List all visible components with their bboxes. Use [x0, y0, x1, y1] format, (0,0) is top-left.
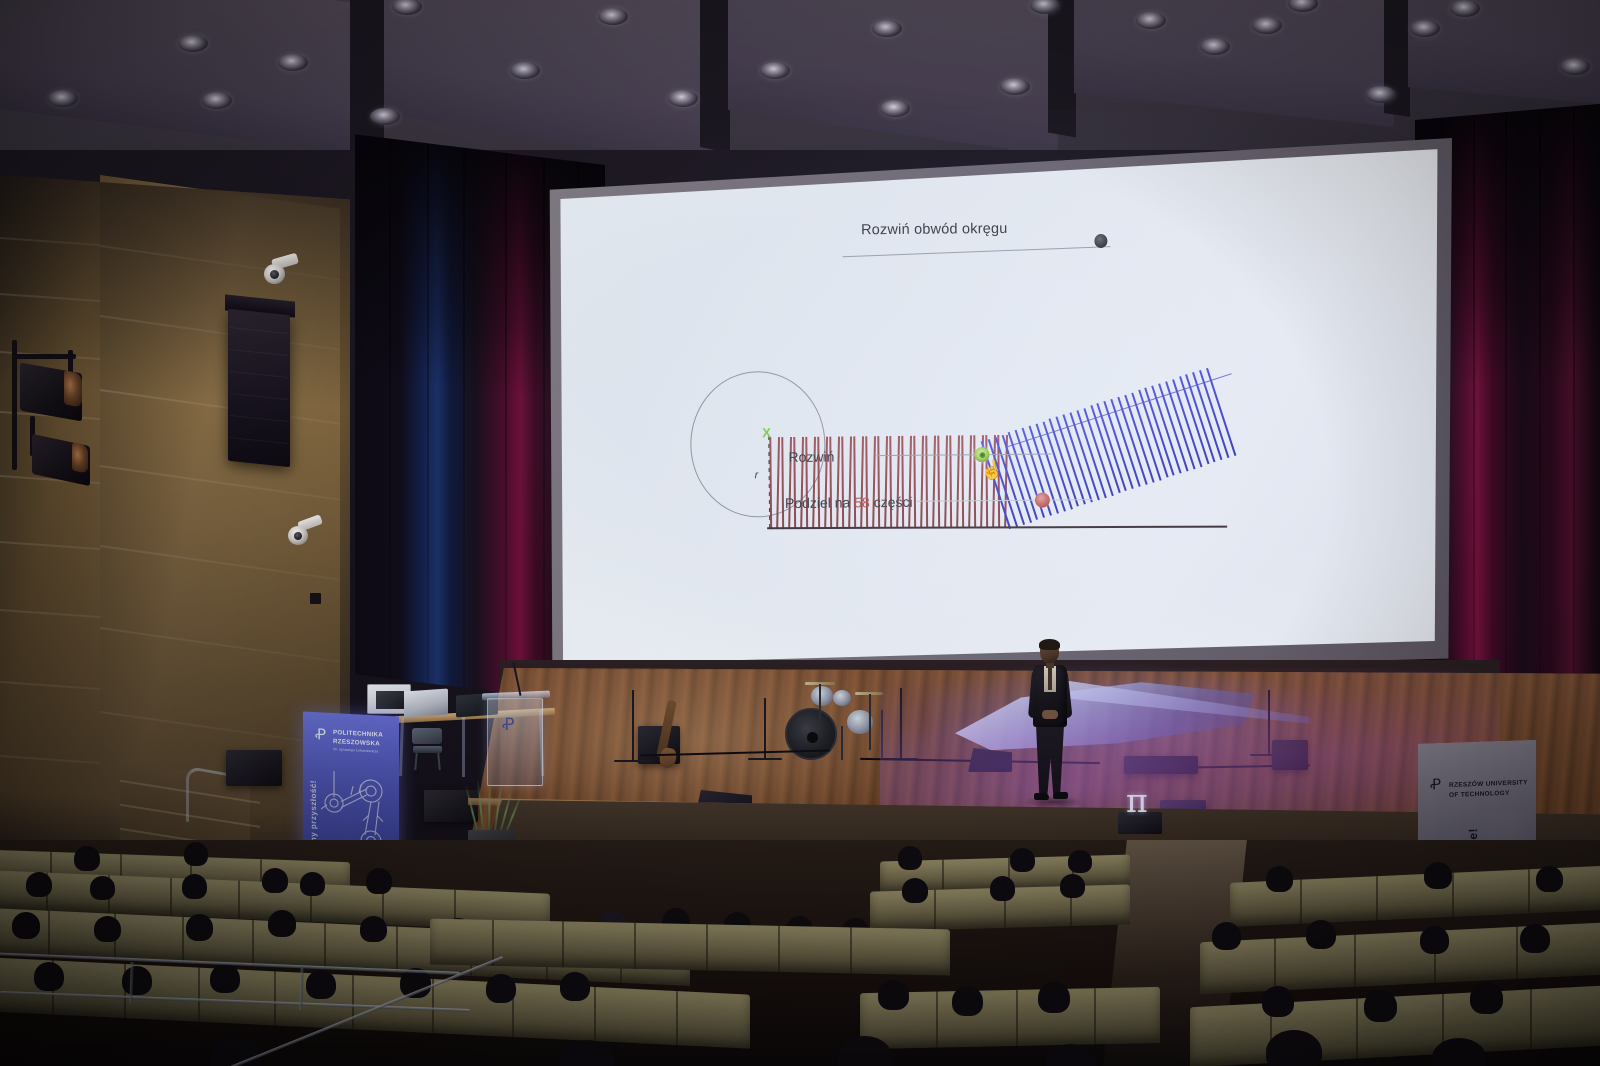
downlight	[1560, 58, 1590, 75]
flat-spoke	[937, 436, 940, 528]
flat-spoke	[889, 436, 892, 528]
flat-spoke	[932, 436, 936, 528]
downlight	[370, 108, 400, 125]
fan-spoke	[1097, 403, 1127, 491]
downlight	[760, 62, 790, 79]
audience-head	[1010, 848, 1035, 872]
divisions-slider-label: Podziel na 58 części	[785, 494, 913, 511]
divisions-suffix: części	[874, 494, 913, 510]
hand-cursor-icon: ☝	[979, 460, 1004, 481]
mic-stand	[900, 688, 902, 760]
audience-head	[122, 966, 152, 995]
audience-head	[366, 868, 392, 894]
audience-area	[0, 840, 1600, 1066]
audience-head	[90, 876, 115, 900]
flat-spoke	[968, 435, 972, 527]
flat-spoke	[853, 436, 856, 528]
equipment-case	[1272, 740, 1308, 770]
stage-light-fixture	[6, 340, 116, 510]
audience-head	[878, 980, 909, 1010]
fan-spoke	[1151, 386, 1181, 474]
flat-spoke	[841, 436, 844, 528]
downlight	[1200, 38, 1230, 55]
pi-symbol-icon: π	[1126, 784, 1148, 817]
projection-screen[interactable]: Rozwiń obwód okręgu r X Rozwiń ☝ P	[556, 147, 1441, 667]
flat-spoke	[925, 436, 928, 528]
flat-spoke	[872, 436, 876, 528]
university-logo-icon: Ꝓ	[315, 727, 326, 743]
audience-head	[182, 874, 207, 899]
fan-spoke	[1199, 370, 1229, 458]
mic-stand-base	[614, 760, 652, 762]
audience-head	[486, 974, 516, 1003]
downlight	[668, 90, 698, 107]
flat-spoke	[836, 437, 840, 529]
drum-kit	[775, 680, 900, 760]
flat-spoke	[949, 435, 952, 527]
audience-head	[186, 914, 213, 941]
university-logo-icon: Ꝓ	[1430, 777, 1441, 792]
audience-head	[1266, 866, 1293, 892]
downlight	[1366, 86, 1396, 103]
downlight	[48, 90, 78, 107]
flat-spoke	[884, 436, 888, 528]
audience-head	[306, 970, 336, 999]
fan-spoke	[1145, 388, 1175, 476]
geometry-figure: r X	[556, 147, 1441, 667]
audience-head	[1470, 982, 1503, 1014]
fan-spoke	[1104, 401, 1134, 489]
downlight	[1410, 20, 1440, 37]
flat-spoke	[865, 436, 868, 528]
audience-head	[1068, 850, 1092, 873]
flat-spoke	[896, 436, 900, 528]
flat-spoke	[956, 435, 960, 527]
flat-spoke	[860, 436, 864, 528]
audience-head	[184, 842, 208, 866]
fan-spoke	[1158, 383, 1188, 471]
audience-head	[1212, 922, 1241, 950]
divisions-slider-handle[interactable]	[1035, 493, 1050, 508]
fan-spoke	[1049, 419, 1079, 507]
fan-spoke	[1117, 397, 1147, 485]
audience-head	[952, 986, 983, 1016]
audience-head	[1262, 986, 1294, 1017]
mic-stand-base	[748, 758, 782, 760]
flat-spoke	[961, 435, 964, 527]
auditorium-scene: Rozwiń obwód okręgu r X Rozwiń ☝ P	[0, 0, 1600, 1066]
fan-spoke	[1063, 414, 1093, 502]
university-logo-icon: Ꝓ	[502, 717, 514, 734]
audience-head	[898, 846, 922, 870]
audience-head	[1536, 866, 1563, 892]
equipment-case	[226, 750, 282, 786]
unroll-slider-label: Rozwiń	[788, 449, 834, 465]
audience-head	[94, 916, 121, 942]
flat-spoke	[848, 436, 852, 528]
mic-stand	[632, 690, 634, 762]
lectern: Ꝓ	[487, 698, 543, 786]
pi-sculpture: π	[1118, 786, 1162, 834]
downlight	[1000, 78, 1030, 95]
laptop[interactable]	[404, 688, 448, 717]
slide-content: Rozwiń obwód okręgu r X Rozwiń ☝ P	[556, 147, 1441, 667]
audience-head	[1038, 982, 1070, 1013]
audience-head	[990, 876, 1015, 901]
audience-head	[560, 972, 590, 1001]
downlight	[202, 92, 232, 109]
downlight	[1450, 0, 1480, 17]
audience-head	[34, 962, 64, 991]
radius-label: r	[755, 469, 759, 481]
audience-head	[1424, 862, 1452, 889]
tom-drum	[833, 690, 851, 706]
audience-head	[360, 916, 387, 942]
fan-spoke	[1192, 372, 1222, 460]
flat-spoke	[901, 436, 904, 528]
figure-baseline	[767, 526, 1227, 530]
flat-spoke	[877, 436, 880, 528]
equipment-case	[1124, 756, 1198, 774]
audience-head	[1420, 926, 1449, 954]
audience-head	[1520, 924, 1550, 953]
audience-head	[74, 846, 100, 871]
fan-spoke	[1069, 412, 1099, 500]
fan-spoke	[1138, 390, 1168, 478]
stage-monitor-wedge	[968, 748, 1012, 772]
downlight	[178, 35, 208, 52]
audience-head	[300, 872, 325, 896]
desk-leg	[462, 715, 465, 777]
line-array-speaker	[228, 309, 290, 468]
banner-right-title-line2: OF TECHNOLOGY	[1449, 789, 1510, 800]
divisions-prefix: Podziel na	[785, 494, 851, 511]
audience-head	[26, 872, 52, 897]
wall-control-plate[interactable]	[310, 593, 321, 604]
fan-spoke	[1206, 368, 1236, 456]
flat-spoke	[920, 436, 924, 528]
flat-spoke	[908, 436, 912, 528]
audience-head	[12, 912, 40, 939]
chair	[412, 728, 442, 770]
fan-spoke	[1186, 374, 1216, 462]
downlight	[278, 54, 308, 71]
flat-spoke	[769, 437, 772, 529]
flat-spoke	[776, 437, 780, 529]
audience-head	[1364, 990, 1397, 1022]
fan-spoke	[1008, 432, 1038, 520]
presenter	[1020, 640, 1080, 810]
downlight	[1136, 12, 1166, 29]
audience-head	[268, 910, 296, 937]
flat-spoke	[781, 437, 784, 529]
downlight	[598, 8, 628, 25]
audience-head	[902, 878, 928, 903]
audience-head	[1266, 1030, 1322, 1066]
divisions-count: 58	[854, 494, 870, 510]
downlight	[1252, 17, 1282, 34]
tom-drum	[811, 686, 833, 706]
audience-head	[1060, 874, 1085, 898]
mic-stand	[1268, 690, 1270, 756]
flat-spoke	[913, 436, 916, 528]
banner-right-title-line1: RZESZÓW UNIVERSITY	[1449, 778, 1528, 790]
fan-spoke	[1110, 399, 1140, 487]
audience-head	[262, 868, 288, 893]
downlight	[880, 100, 910, 117]
downlight	[872, 20, 902, 37]
fan-spoke	[1056, 417, 1086, 505]
audience-head	[1306, 920, 1336, 949]
downlight	[510, 62, 540, 79]
flat-spoke	[944, 436, 948, 528]
audience-head	[210, 964, 240, 993]
